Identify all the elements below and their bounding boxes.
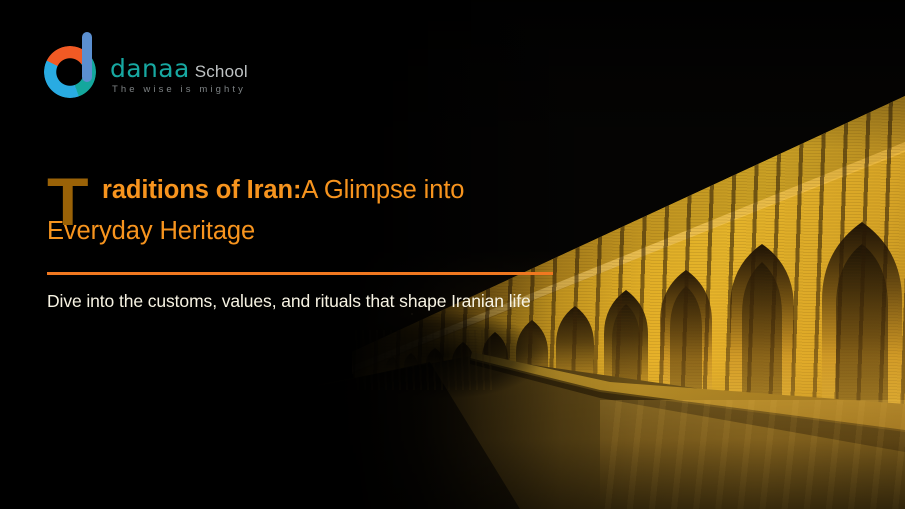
headline-lines: raditions of Iran:A Glimpse intoEveryday… [47, 176, 464, 245]
brand-name-secondary: School [195, 62, 248, 81]
headline-part-strong: raditions of Iran: [102, 176, 301, 204]
brand-name: danaaSchool [110, 54, 248, 83]
danaa-logo-icon [44, 32, 106, 98]
headline-part-light-1: A Glimpse into [301, 176, 464, 204]
brand-name-primary: danaa [110, 54, 190, 83]
slide-text-block: T raditions of Iran:A Glimpse intoEveryd… [47, 170, 567, 252]
divider-rule [47, 272, 553, 275]
logo-d-stem-icon [82, 32, 92, 82]
presentation-slide: danaaSchool The wise is mighty T raditio… [0, 0, 905, 509]
logo-wordmark: danaaSchool The wise is mighty [110, 22, 290, 104]
brand-tagline: The wise is mighty [112, 84, 246, 95]
headline-dropcap: T [47, 168, 88, 236]
slide-subtitle: Dive into the customs, values, and ritua… [47, 288, 557, 314]
page-title: T raditions of Iran:A Glimpse intoEveryd… [47, 170, 567, 252]
